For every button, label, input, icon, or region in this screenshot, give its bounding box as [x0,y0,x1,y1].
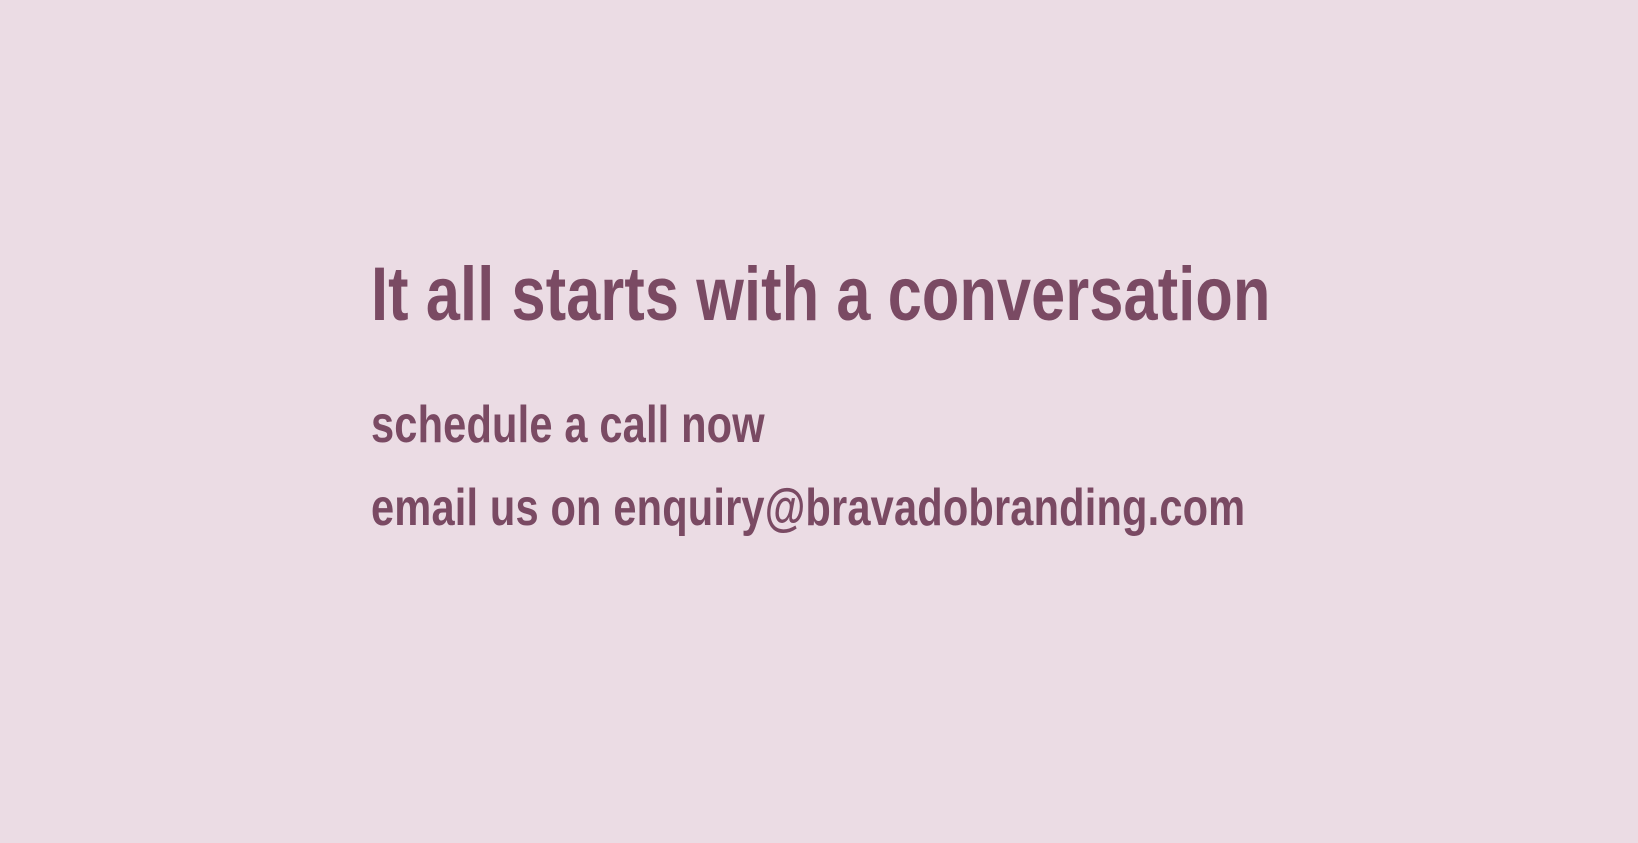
contact-options-list: schedule a call now email us on enquiry@… [371,384,1471,550]
page-title: It all starts with a conversation [371,252,1257,338]
cta-slide: It all starts with a conversation schedu… [0,0,1638,843]
contact-content-block: It all starts with a conversation schedu… [371,252,1471,550]
schedule-call-line[interactable]: schedule a call now [371,384,1251,467]
email-contact-line[interactable]: email us on enquiry@bravadobranding.com [371,467,1251,550]
